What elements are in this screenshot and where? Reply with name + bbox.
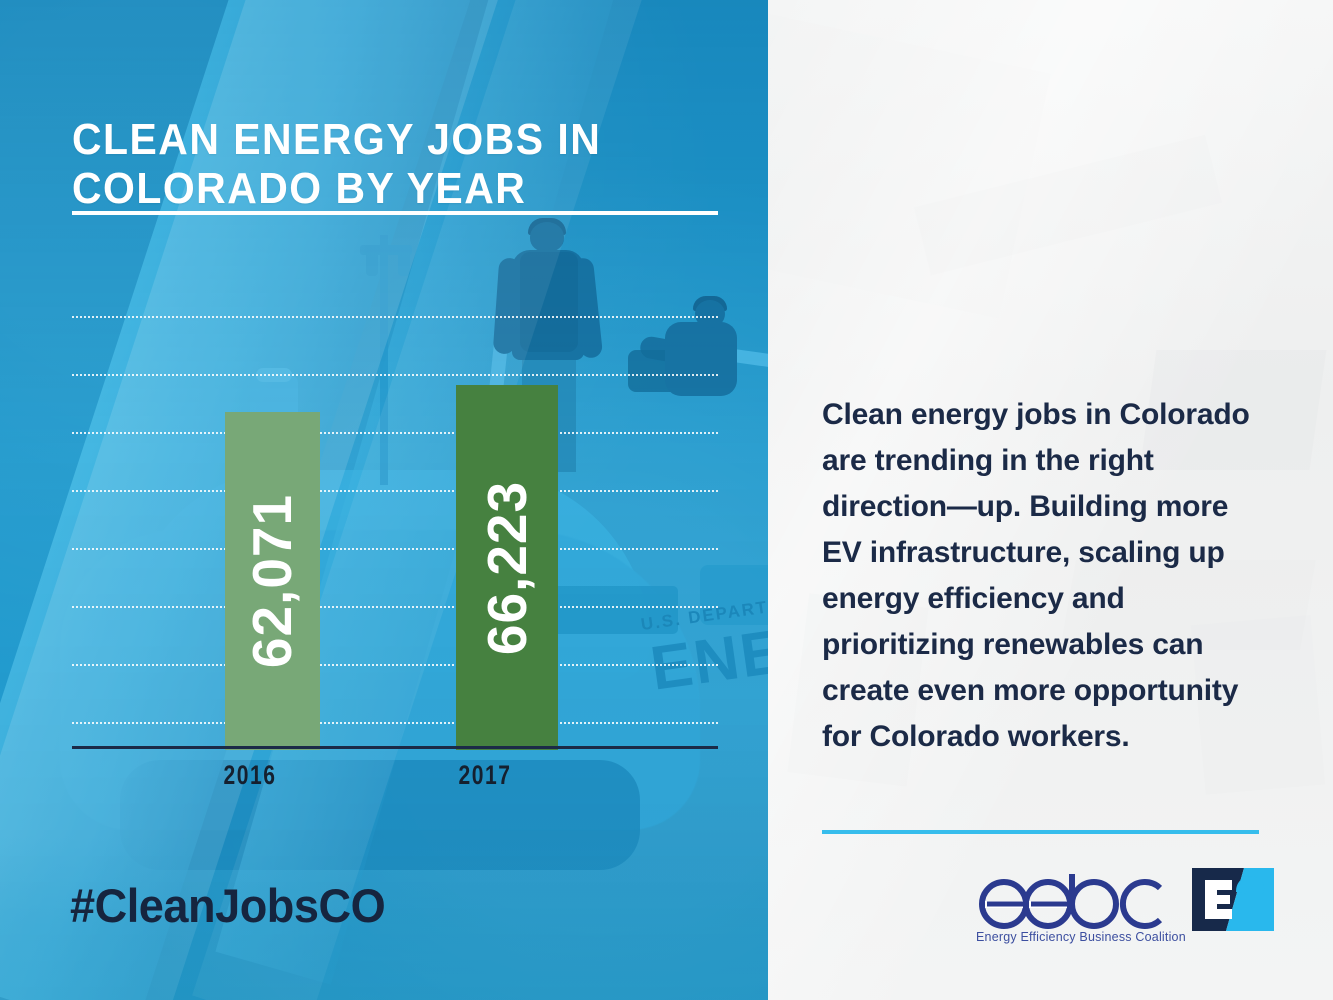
bar-chart: 62,071 66,223 — [72, 240, 718, 750]
gridline — [72, 316, 718, 318]
gridline — [72, 490, 718, 492]
eebc-tagline: Energy Efficiency Business Coalition — [976, 930, 1176, 944]
infographic-canvas: U.S. DEPARTMENT OF ENERGY CLEAN ENERGY J… — [0, 0, 1333, 1000]
body-copy: Clean energy jobs in Colorado are trendi… — [822, 392, 1256, 760]
right-panel-divider — [822, 830, 1259, 834]
gridline — [72, 374, 718, 376]
eebc-logo: Energy Efficiency Business Coalition — [974, 868, 1179, 960]
gridline — [72, 548, 718, 550]
category-label-2016: 2016 — [176, 760, 324, 791]
gridline — [72, 664, 718, 666]
title-underline — [72, 211, 718, 215]
hashtag: #CleanJobsCO — [70, 878, 385, 933]
eebc-wordmark-icon — [974, 868, 1179, 930]
category-label-2017: 2017 — [411, 760, 559, 791]
logo-row: Energy Efficiency Business Coalition 2 — [822, 860, 1262, 970]
bar-2017: 66,223 — [456, 385, 558, 750]
gridline — [72, 722, 718, 724]
bar-value-2017: 66,223 — [475, 480, 539, 654]
bar-2016: 62,071 — [225, 412, 320, 750]
bar-value-2016: 62,071 — [241, 494, 305, 668]
gridline — [72, 432, 718, 434]
page-title: CLEAN ENERGY JOBS IN COLORADO BY YEAR — [72, 115, 686, 213]
chart-axis-line — [72, 746, 718, 749]
gridline — [72, 606, 718, 608]
e2-logo-icon: 2 — [1192, 868, 1274, 931]
